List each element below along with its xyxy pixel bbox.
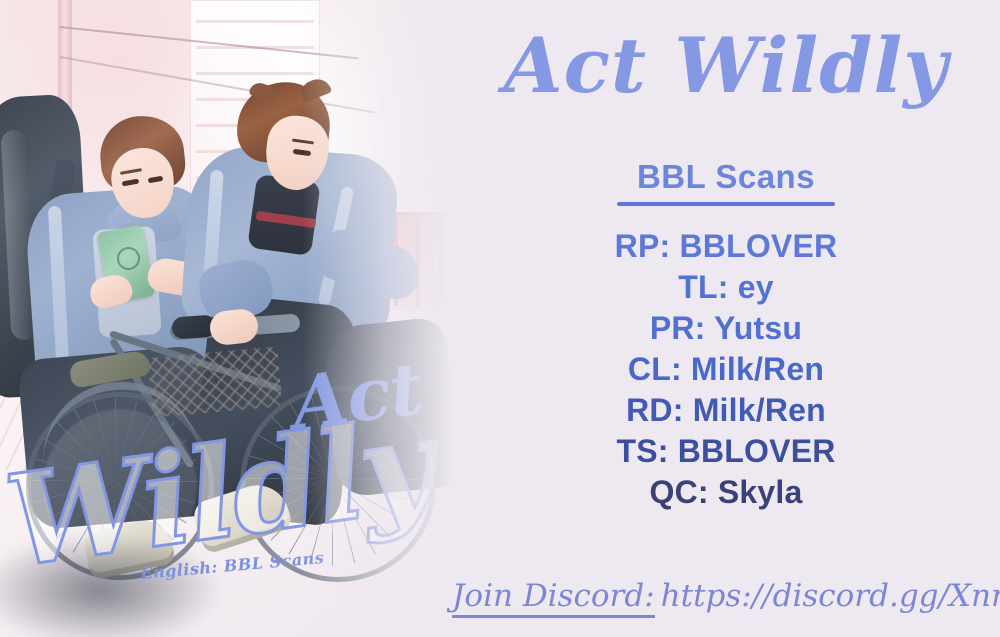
discord-label: Join Discord: (452, 578, 655, 618)
credit-role-line: CL: Milk/Ren (452, 349, 1000, 390)
credits-panel: Act Wildly BBL Scans RP: BBLOVERTL: eyPR… (452, 0, 1000, 637)
scanlation-group-underline (617, 202, 835, 206)
cover-artwork: Act Wildly English: BBL Scans (0, 0, 452, 637)
credits-page: Act Wildly English: BBL Scans Act Wildly… (0, 0, 1000, 637)
credit-role-line: RP: BBLOVER (452, 226, 1000, 267)
credit-role-line: TS: BBLOVER (452, 431, 1000, 472)
discord-invite: Join Discord:https://discord.gg/XnrcpBtn… (452, 578, 1000, 614)
discord-url[interactable]: https://discord.gg/XnrcpBtnDt (655, 578, 1000, 614)
bicycle-basket (148, 346, 283, 417)
credit-roles-list: RP: BBLOVERTL: eyPR: YutsuCL: Milk/RenRD… (452, 226, 1000, 513)
credit-role-line: TL: ey (452, 267, 1000, 308)
credit-role-line: QC: Skyla (452, 472, 1000, 513)
scanlation-group: BBL Scans (452, 158, 1000, 206)
scanlation-group-name: BBL Scans (637, 158, 815, 200)
credit-role-line: RD: Milk/Ren (452, 390, 1000, 431)
series-title: Act Wildly (452, 26, 1000, 106)
credit-role-line: PR: Yutsu (452, 308, 1000, 349)
